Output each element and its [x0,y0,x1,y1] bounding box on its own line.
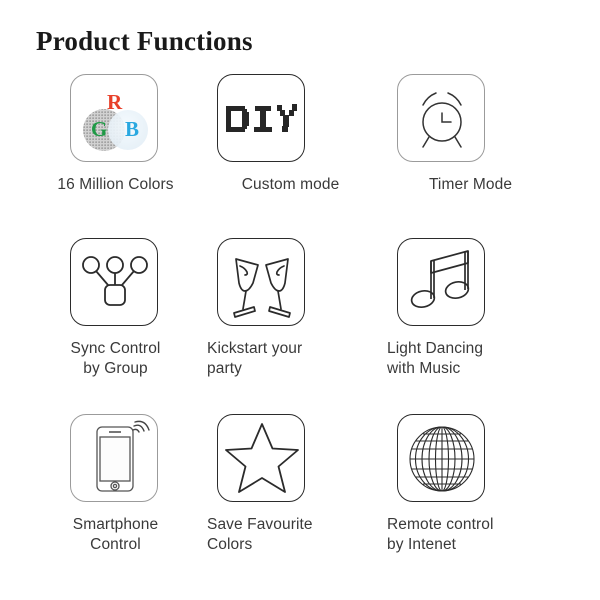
feature-label: Light Dancing with Music [383,339,558,379]
feature-label: Smartphone Control [28,515,203,555]
feature-label-line: Control [28,535,203,555]
rgb-letter-r: R [107,92,122,113]
icon-tile [397,414,485,502]
feature-label-line: Save Favourite [207,515,378,535]
feature-label: Save Favourite Colors [203,515,378,555]
feature-item-16-million-colors[interactable]: R G B 16 Million Colors [28,74,203,195]
feature-label: 16 Million Colors [28,175,203,195]
feature-item-timer-mode[interactable]: Timer Mode [383,74,558,195]
feature-label: Custom mode [203,175,378,195]
feature-label: Sync Control by Group [28,339,203,379]
feature-row: Sync Control by Group [0,238,600,414]
feature-item-remote-control-internet[interactable]: Remote control by Intenet [383,414,558,555]
feature-item-kickstart-party[interactable]: Kickstart your party [203,238,378,379]
feature-label-line: Remote control [387,515,558,535]
alarm-clock-icon [398,75,486,163]
icon-tile [217,74,305,162]
feature-label: Remote control by Intenet [383,515,558,555]
feature-label-line: 16 Million Colors [28,175,203,195]
feature-label-line: Kickstart your [207,339,378,359]
feature-item-sync-control[interactable]: Sync Control by Group [28,238,203,379]
feature-label-line: with Music [387,359,558,379]
feature-label-line: Colors [207,535,378,555]
music-note-icon [398,239,486,327]
icon-tile: R G B [70,74,158,162]
page-title: Product Functions [36,26,253,57]
feature-label-line: by Group [28,359,203,379]
sync-group-nodes-icon [71,239,159,327]
feature-label-line: Sync Control [28,339,203,359]
feature-row: Smartphone Control Save Favourite Colors [0,414,600,590]
rgb-letter-g: G [91,119,107,140]
feature-label: Kickstart your party [203,339,378,379]
feature-grid: R G B 16 Million Colors [0,74,600,590]
icon-tile [217,238,305,326]
rgb-color-circles-icon [71,75,159,163]
icon-tile [217,414,305,502]
icon-tile [397,74,485,162]
feature-label-line: Timer Mode [383,175,558,195]
champagne-glasses-icon [218,239,306,327]
feature-item-save-favourite-colors[interactable]: Save Favourite Colors [203,414,378,555]
rgb-letter-b: B [125,119,139,140]
smartphone-wifi-icon [71,415,159,503]
feature-label-line: Light Dancing [387,339,558,359]
feature-label-line: party [207,359,378,379]
feature-label-line: by Intenet [387,535,558,555]
icon-tile [70,414,158,502]
icon-tile [70,238,158,326]
icon-tile [397,238,485,326]
feature-item-light-dancing-music[interactable]: Light Dancing with Music [383,238,558,379]
feature-label-line: Custom mode [203,175,378,195]
feature-label: Timer Mode [383,175,558,195]
diy-pixel-text-icon [218,75,306,163]
feature-item-custom-mode[interactable]: Custom mode [203,74,378,195]
feature-item-smartphone-control[interactable]: Smartphone Control [28,414,203,555]
feature-row: R G B 16 Million Colors [0,74,600,238]
feature-label-line: Smartphone [28,515,203,535]
star-icon [218,415,306,503]
globe-wireframe-icon [398,415,486,503]
